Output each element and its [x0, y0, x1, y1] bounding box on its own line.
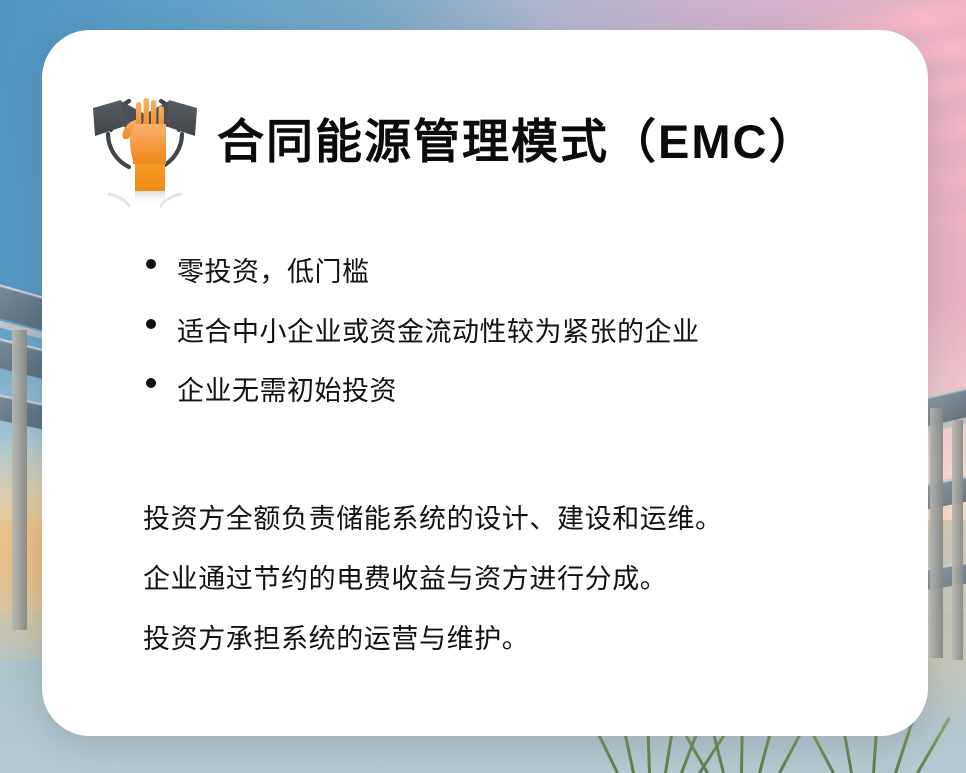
description-line: 企业通过节约的电费收益与资方进行分成。	[143, 562, 903, 598]
hands-circle-arrows-icon	[85, 68, 205, 213]
bullet-dot-icon	[146, 259, 156, 269]
list-item: 适合中小企业或资金流动性较为紧张的企业	[138, 315, 898, 351]
support-post	[952, 420, 963, 660]
list-item-label: 企业无需初始投资	[177, 376, 397, 406]
list-item: 零投资，低门槛	[138, 255, 898, 291]
page-title: 合同能源管理模式（EMC）	[217, 118, 817, 165]
description-line: 投资方全额负责储能系统的设计、建设和运维。	[143, 502, 903, 538]
emc-info-card: 合同能源管理模式（EMC） 零投资，低门槛 适合中小企业或资金流动性较为紧张的企…	[42, 30, 928, 736]
bullet-dot-icon	[146, 378, 156, 388]
support-post	[12, 330, 27, 630]
list-item-label: 零投资，低门槛	[177, 257, 370, 287]
description-block: 投资方全额负责储能系统的设计、建设和运维。 企业通过节约的电费收益与资方进行分成…	[143, 502, 903, 658]
description-line: 投资方承担系统的运营与维护。	[143, 622, 903, 658]
list-item-label: 适合中小企业或资金流动性较为紧张的企业	[177, 317, 700, 347]
list-item: 企业无需初始投资	[138, 374, 898, 410]
bullet-dot-icon	[146, 319, 156, 329]
support-post	[930, 408, 943, 658]
benefits-list: 零投资，低门槛 适合中小企业或资金流动性较为紧张的企业 企业无需初始投资	[138, 255, 898, 410]
card-header: 合同能源管理模式（EMC）	[42, 30, 928, 220]
